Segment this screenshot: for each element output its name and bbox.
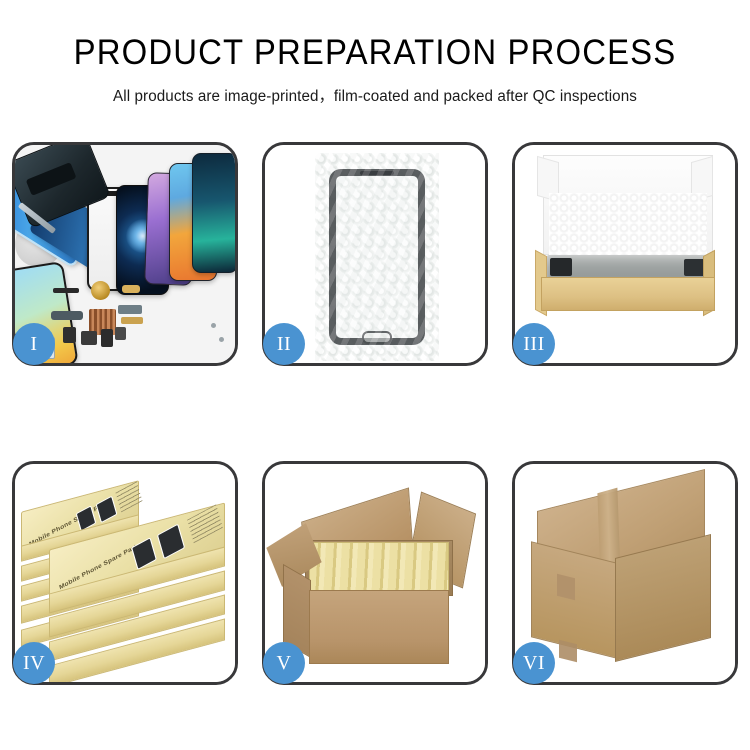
page-title: PRODUCT PREPARATION PROCESS — [23, 33, 728, 73]
process-steps-grid: I II III — [12, 142, 738, 687]
infographic-page: PRODUCT PREPARATION PROCESS All products… — [0, 0, 750, 750]
metal-shield-part — [51, 311, 83, 320]
camera-module-part — [115, 327, 126, 340]
step-panel-5[interactable]: V — [262, 461, 488, 685]
step-badge-1: I — [13, 323, 55, 365]
page-subtitle: All products are image-printed，film-coat… — [8, 84, 743, 106]
box-lid-phone-graphic — [157, 524, 185, 560]
step-panel-4[interactable]: Mobile Phone Spare Parts Mobile Phone Sp… — [12, 461, 238, 685]
flex-cable-part — [53, 288, 79, 293]
box-lid-phone-graphic — [96, 496, 118, 524]
carton-flap-seam — [559, 640, 577, 662]
copper-coil-part — [91, 281, 110, 300]
box-lid-spec-lines — [116, 481, 143, 512]
step-panel-6[interactable]: VI — [512, 461, 738, 685]
phone-screen-teal — [192, 153, 235, 273]
speaker-part — [81, 331, 97, 345]
header: PRODUCT PREPARATION PROCESS All products… — [0, 0, 750, 106]
step-badge-5: V — [263, 642, 305, 684]
wrap-sheen — [315, 153, 439, 361]
step-badge-6: VI — [513, 642, 555, 684]
screw-part — [219, 337, 224, 342]
step-panel-1[interactable]: I — [12, 142, 238, 366]
foam-padding — [549, 193, 707, 263]
box-stack: Mobile Phone Spare Parts Mobile Phone Sp… — [21, 478, 231, 674]
battery-connector-part — [101, 329, 113, 347]
box-front-panel — [541, 277, 715, 311]
carton-flap-seam — [557, 574, 575, 600]
screw-part — [211, 323, 216, 328]
step-panel-2[interactable]: II — [262, 142, 488, 366]
step-panel-3[interactable]: III — [512, 142, 738, 366]
step-badge-3: III — [513, 323, 555, 365]
bubble-wrap — [315, 153, 439, 361]
step-badge-4: IV — [13, 642, 55, 684]
packed-inner-boxes — [309, 542, 449, 592]
box-lid-spec-lines — [187, 504, 223, 543]
gold-flex-part — [121, 317, 143, 324]
gold-contact-part — [122, 285, 140, 293]
small-module-part — [63, 327, 76, 343]
step-badge-2: II — [263, 323, 305, 365]
carton-right-panel — [615, 534, 711, 662]
metal-bracket-part — [118, 305, 142, 314]
carton-front-panel — [309, 590, 449, 664]
